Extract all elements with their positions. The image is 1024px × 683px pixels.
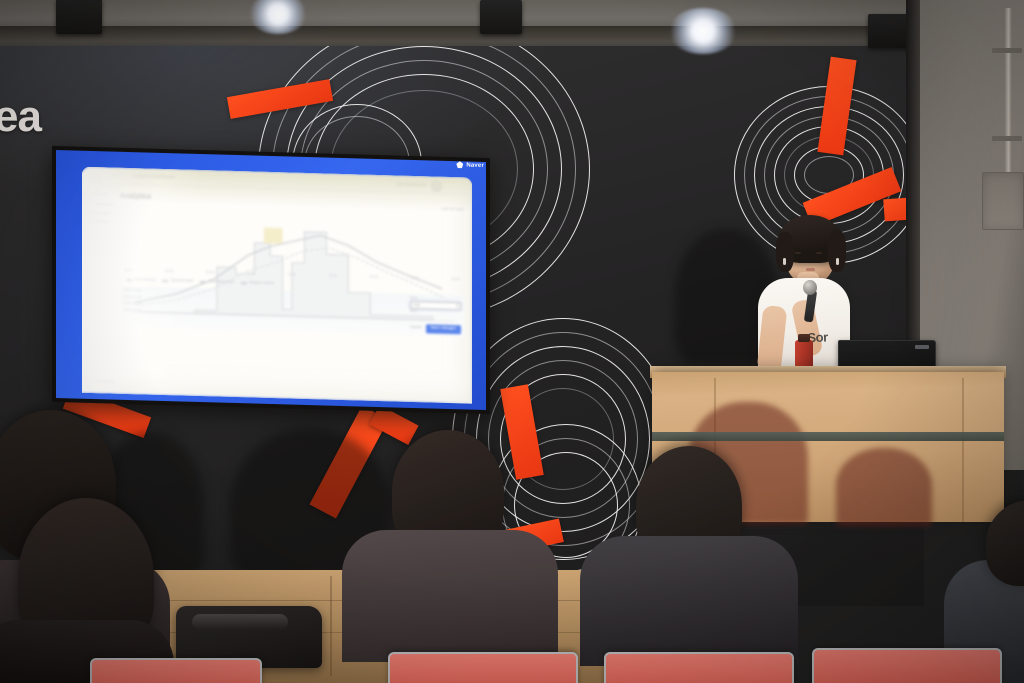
page-subtitle: Last 30 days (441, 205, 464, 212)
legend-swatch-icon (162, 280, 168, 282)
legend-label: Price forecast (134, 277, 155, 283)
edit-dashboard-button[interactable]: Edit dashboard (396, 182, 426, 189)
topbar-actions: Edit dashboard (396, 180, 442, 192)
sidebar-item-label: Settings (94, 218, 108, 224)
sidebar-item-help[interactable]: Help center (89, 378, 114, 385)
grid-icon (89, 202, 92, 205)
legend-swatch-icon (126, 279, 132, 281)
conference-photo: ea Naver Home › Analy (0, 0, 1024, 683)
audience-shadow-on-podium (836, 448, 932, 526)
x-tick: 09:00 (165, 269, 174, 274)
wall-pipe (1005, 8, 1012, 188)
breadcrumb-current: Analytics Dashboard (131, 173, 175, 181)
x-tick: 12:00 (288, 273, 297, 278)
slide-surface: Home › Analytics Dashboard Edit dashboar… (82, 167, 472, 404)
pentagon-brand-mark-icon (456, 161, 463, 168)
sidebar-item-settings[interactable]: Settings (89, 218, 116, 225)
breadcrumb-separator-icon: › (126, 173, 127, 180)
chart-svg (120, 204, 464, 323)
legend-entry[interactable]: Regular volume (241, 280, 274, 286)
chart-highlight-marker (264, 227, 283, 243)
speaker-hair-side (828, 230, 846, 272)
pipe-bracket (992, 136, 1022, 141)
question-icon (89, 379, 92, 382)
database-icon (89, 211, 92, 214)
legend-swatch-icon (200, 281, 206, 283)
sidebar-item-dashboard[interactable]: Dashboard (89, 201, 116, 208)
microphone-head-icon (803, 280, 817, 295)
ceiling-speaker (480, 0, 522, 34)
save-changes-button[interactable]: Save changes (426, 324, 461, 334)
gear-icon (89, 220, 92, 223)
x-tick: 13:00 (329, 274, 338, 279)
x-tick: 08:00 (124, 268, 133, 273)
audience-chair (388, 652, 578, 683)
cancel-button[interactable]: Cancel (410, 325, 422, 331)
bag-highlight (192, 614, 288, 630)
x-tick: 16:00 (451, 277, 460, 282)
legend-entry[interactable]: Normalized price (200, 279, 234, 285)
audience-chair (90, 658, 262, 683)
sidebar-item-label: Dashboard (94, 201, 113, 207)
app-content: Analytics Last 30 days 08:00 (118, 188, 466, 404)
electrical-box (982, 172, 1024, 230)
legend-swatch-icon (241, 282, 247, 284)
speaker-eye (816, 252, 822, 254)
page-title: Analytics (120, 192, 151, 203)
audience-shoulders (580, 536, 798, 666)
speaker-earring (783, 258, 786, 265)
audience-shoulders (342, 530, 558, 662)
audience-chair (812, 648, 1002, 683)
screen-brand-badge: Naver (456, 161, 484, 169)
podium-panel-seam (962, 378, 964, 522)
legend-label: Standard price (170, 278, 193, 284)
user-avatar-icon[interactable] (431, 180, 442, 191)
speaker-mouth (806, 268, 815, 271)
sidebar-item-datasets[interactable]: Data sets (89, 209, 116, 216)
x-tick: 11:00 (247, 272, 255, 277)
projection-screen: Naver Home › Analytics Dashboard Edit da… (52, 146, 490, 414)
sidebar-section-label: Workspace (89, 192, 116, 198)
bottle-cap (798, 334, 810, 342)
legend-entry[interactable]: Standard price (162, 278, 193, 284)
analytics-chart: 08:00 09:00 10:00 11:00 12:00 13:00 14:0… (120, 204, 464, 292)
speaker-earring (836, 258, 839, 265)
brand-label: Naver (466, 162, 484, 168)
x-tick: 10:00 (206, 271, 215, 276)
x-tick: 15:00 (411, 276, 420, 281)
legend-entry[interactable]: Price forecast (126, 277, 155, 283)
pipe-bracket (992, 48, 1022, 53)
podium-dark-band (652, 432, 1004, 441)
audience-chair (604, 652, 794, 683)
wall-wordmark: ea (0, 92, 41, 142)
sidebar-item-label: Help center (94, 378, 114, 384)
x-tick: 14:00 (370, 275, 379, 280)
legend-label: Normalized price (208, 279, 234, 285)
legend-label: Regular volume (249, 281, 274, 287)
ceiling-speaker (56, 0, 102, 34)
floor-plank-line (330, 576, 332, 676)
laptop-brand-logo-icon (915, 345, 929, 349)
breadcrumb-home[interactable]: Home (110, 173, 122, 180)
app-sidebar: Workspace Dashboard Data sets Settings (86, 187, 116, 394)
sidebar-item-label: Data sets (94, 210, 110, 216)
ceiling-spotlight (668, 8, 738, 54)
analytics-app-screenshot: Home › Analytics Dashboard Edit dashboar… (82, 167, 472, 404)
speaker-hair-side (776, 232, 794, 272)
speaker-eye (795, 252, 801, 254)
